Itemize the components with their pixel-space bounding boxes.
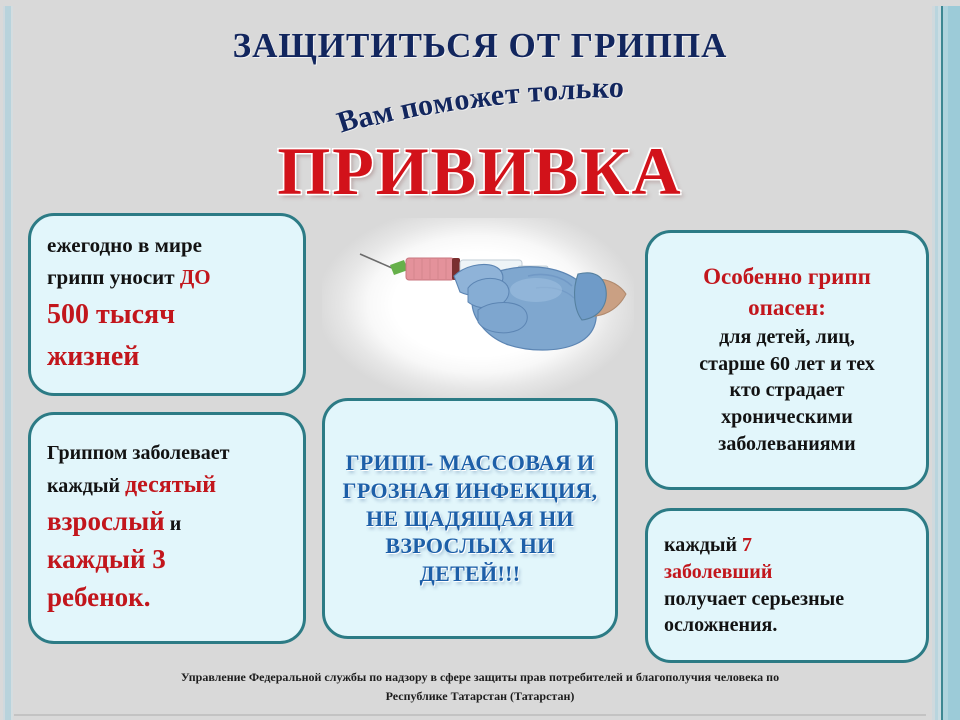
fact-box-risk-groups-content: Особенно гриппопасен:для детей, лиц,стар…	[648, 233, 926, 487]
fact-text: каждый	[47, 475, 125, 497]
poster-title: ЗАЩИТИТЬСЯ ОТ ГРИППА	[0, 26, 960, 66]
fact-line: каждый 7	[664, 532, 910, 559]
fact-text: каждый	[664, 534, 742, 556]
fact-line: получает серьезные	[664, 586, 910, 613]
arched-char: т	[503, 77, 521, 112]
fact-text: ребенок.	[47, 582, 151, 612]
fact-text: кто страдает	[730, 379, 845, 401]
fact-box-incidence-content: Гриппом заболеваеткаждый десятыйвзрослый…	[31, 415, 303, 641]
fact-line: кто страдает	[660, 377, 914, 404]
fact-line: заболевший	[664, 559, 910, 586]
top-edge-band	[0, 0, 960, 6]
fact-text: и	[165, 513, 182, 535]
fact-line: старше 60 лет и тех	[660, 351, 914, 378]
fact-line: каждый 3	[47, 540, 287, 578]
poster-keyword-vaccination: ПРИВИВКА	[0, 132, 960, 211]
arched-char: ь	[575, 72, 592, 106]
fact-box-risk-groups: Особенно гриппопасен:для детей, лиц,стар…	[645, 230, 929, 490]
fact-line: ДЕТЕЙ!!!	[335, 560, 605, 588]
fact-text: 500 тысяч	[47, 299, 175, 330]
fact-line: ГРОЗНАЯ ИНФЕКЦИЯ,	[335, 477, 605, 505]
fact-box-complications-content: каждый 7заболевшийполучает серьезныеосло…	[648, 511, 926, 660]
bottom-divider-line	[14, 714, 926, 716]
arched-char: о	[607, 71, 624, 106]
fact-text: Гриппом заболевает	[47, 442, 230, 464]
fact-line: 500 тысяч	[47, 294, 287, 337]
fact-text: каждый 3	[47, 544, 166, 574]
fact-text: Особенно грипп	[703, 264, 871, 289]
fact-box-incidence: Гриппом заболеваеткаждый десятыйвзрослый…	[28, 412, 306, 644]
arched-char: о	[542, 74, 558, 108]
fact-text: заболевший	[664, 561, 772, 583]
fact-line: для детей, лиц,	[660, 324, 914, 351]
fact-text: заболеваниями	[718, 433, 855, 455]
fact-line: грипп уносит ДО	[47, 262, 287, 294]
arched-char: л	[558, 73, 575, 107]
fact-line: заболеваниями	[660, 431, 914, 458]
fact-text: ДО	[180, 265, 211, 289]
fact-text: ежегодно в мире	[47, 233, 202, 257]
flu-vaccination-poster: ЗАЩИТИТЬСЯ ОТ ГРИППА Вам поможет только …	[0, 0, 960, 720]
fact-text: получает серьезные	[664, 588, 844, 610]
fact-text: взрослый	[47, 506, 165, 536]
fact-box-mass-infection-content: ГРИПП- МАССОВАЯ ИГРОЗНАЯ ИНФЕКЦИЯ,НЕ ЩАД…	[325, 401, 615, 636]
arched-text: Вам поможет только	[338, 67, 623, 135]
fact-text: 7	[742, 534, 752, 556]
fact-line: опасен:	[660, 293, 914, 324]
fact-line: ВЗРОСЛЫХ НИ	[335, 532, 605, 560]
fact-line: взрослый и	[47, 502, 287, 540]
fact-text: жизней	[47, 341, 139, 372]
fact-line: хроническими	[660, 404, 914, 431]
fact-line: осложнения.	[664, 612, 910, 639]
fact-line: ежегодно в мире	[47, 230, 287, 262]
fact-line: жизней	[47, 336, 287, 379]
footer-line-2: Республике Татарстан (Татарстан)	[30, 687, 930, 706]
fact-line: Гриппом заболевает	[47, 439, 287, 467]
fact-line: Особенно грипп	[660, 262, 914, 293]
arched-char: т	[527, 75, 543, 110]
fact-text: осложнения.	[664, 614, 777, 636]
fact-line: НЕ ЩАДЯЩАЯ НИ	[335, 505, 605, 533]
syringe-illustration	[322, 218, 634, 398]
fact-text: хроническими	[721, 406, 853, 428]
fact-box-annual-deaths-content: ежегодно в мирегрипп уносит ДО500 тысячж…	[31, 216, 303, 393]
fact-text: десятый	[125, 472, 216, 498]
fact-text: грипп уносит	[47, 265, 180, 289]
fact-line: ГРИПП- МАССОВАЯ И	[335, 449, 605, 477]
fact-line: каждый десятый	[47, 468, 287, 502]
fact-box-annual-deaths: ежегодно в мирегрипп уносит ДО500 тысячж…	[28, 213, 306, 396]
fact-line: ребенок.	[47, 578, 287, 616]
arched-char: к	[590, 71, 609, 106]
footer-line-1: Управление Федеральной службы по надзору…	[30, 668, 930, 687]
fact-box-mass-infection: ГРИПП- МАССОВАЯ ИГРОЗНАЯ ИНФЕКЦИЯ,НЕ ЩАД…	[322, 398, 618, 639]
footer-agency: Управление Федеральной службы по надзору…	[30, 668, 930, 706]
fact-text: опасен:	[748, 295, 826, 320]
fact-text: для детей, лиц,	[719, 326, 855, 348]
fact-box-complications: каждый 7заболевшийполучает серьезныеосло…	[645, 508, 929, 663]
fact-text: старше 60 лет и тех	[699, 353, 875, 375]
gloved-hand-syringe-icon	[322, 218, 634, 398]
